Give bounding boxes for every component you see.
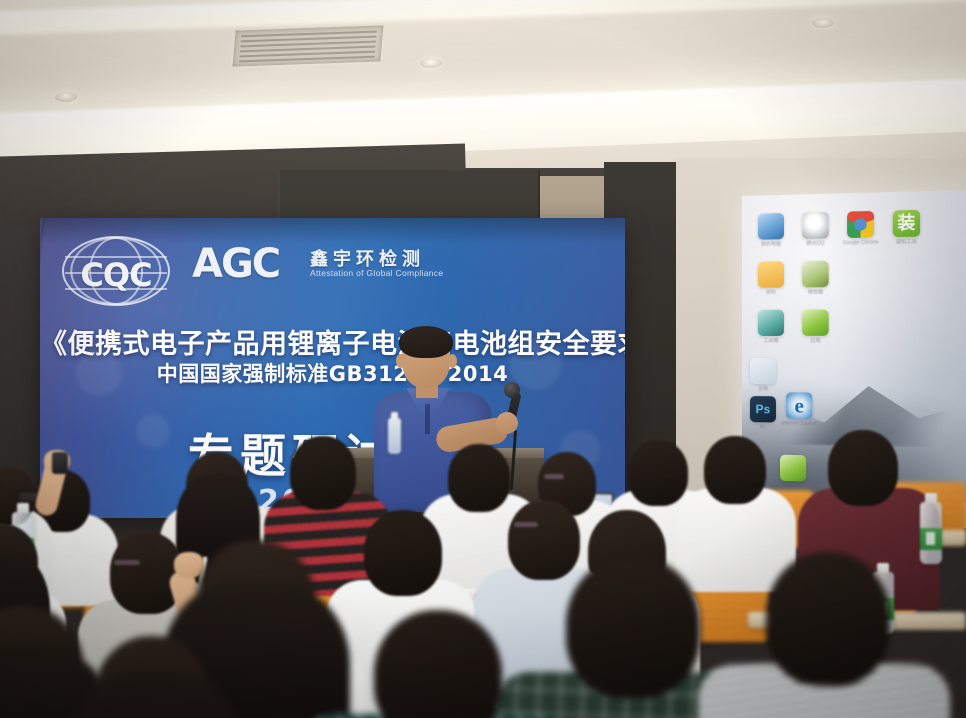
bottle-label [920,528,942,550]
cqc-logo: CQC [62,236,170,306]
water-bottle [388,418,401,454]
company-name-en: Attestation of Global Compliance [310,268,443,278]
chrome-icon [847,211,874,238]
attendee-head [704,436,766,504]
microphone-icon [504,382,520,398]
folder-icon [758,261,784,287]
presenter-hair [399,326,453,358]
attendee-head [364,510,442,596]
desktop-icon-chrome[interactable]: Google Chrome [843,211,878,246]
agc-logo-text: AGC [192,242,279,286]
desktop-icon-folder[interactable]: 资料 [754,261,788,296]
qq-icon [802,212,828,239]
hvac-vent-icon [230,23,385,68]
presenter-placket [425,404,430,434]
desktop-icon-computer[interactable]: 我的电脑 [754,213,788,248]
desktop-icon-teal-app[interactable]: 工具箱 [754,310,788,344]
media-icon [802,261,828,288]
banner-title: 《便携式电子产品用锂离子电池和电池组安全要求》 [40,322,625,361]
desktop-icon-install[interactable]: 装 装机工具 [889,210,925,246]
excel-icon [780,455,806,482]
presenter-ear [448,354,457,368]
doc-icon [750,358,776,384]
bottle-cap [925,493,937,503]
desktop-icon-qq[interactable]: 腾讯QQ [798,212,833,247]
attendee-head [566,556,700,698]
photoshop-icon: Ps [750,396,776,422]
grid-app-icon [802,309,828,335]
hair-tie [514,522,538,527]
water-bottle [920,502,942,564]
agc-logo: AGC 鑫宇环检测 Attestation of Global Complian… [192,242,279,286]
attendee-head [828,430,898,506]
presenter-ear [396,354,405,368]
desktop-icon-media[interactable]: 播放器 [798,261,833,296]
desktop-icon-grid-app[interactable]: 应用 [798,309,833,344]
internet-explorer-icon [786,392,812,419]
hair-tie [114,560,140,565]
bottle-cap [877,563,889,573]
attendee-head [766,552,890,686]
presenter-hand [496,412,518,434]
install-icon: 装 [893,210,920,237]
desktop-icon-photoshop[interactable]: Ps Ps [746,396,780,431]
teal-app-icon [758,310,784,336]
desktop-icon-internet-explorer[interactable]: Internet Explorer [782,392,816,427]
attendee-head [290,436,356,510]
cqc-logo-text: CQC [62,256,170,294]
attendee-head [628,440,688,506]
banner-subtitle: 中国国家强制标准GB31241-2014 [40,358,625,388]
desktop-icon-doc[interactable]: 文档 [746,358,780,392]
attendee-head [508,500,580,580]
desktop-icon-excel[interactable]: 表格 [776,455,810,490]
computer-icon [758,213,784,240]
seminar-photograph: 我的电脑 腾讯QQ Google Chrome 装 装机工具 资料 播放器 工具… [0,0,966,718]
attendee-head [448,444,510,512]
attendee-hand [174,552,204,578]
hair-tie [544,474,564,479]
mobile-phone[interactable] [52,452,68,474]
bottle-cap [17,503,29,513]
banner-bokeh [136,414,170,448]
